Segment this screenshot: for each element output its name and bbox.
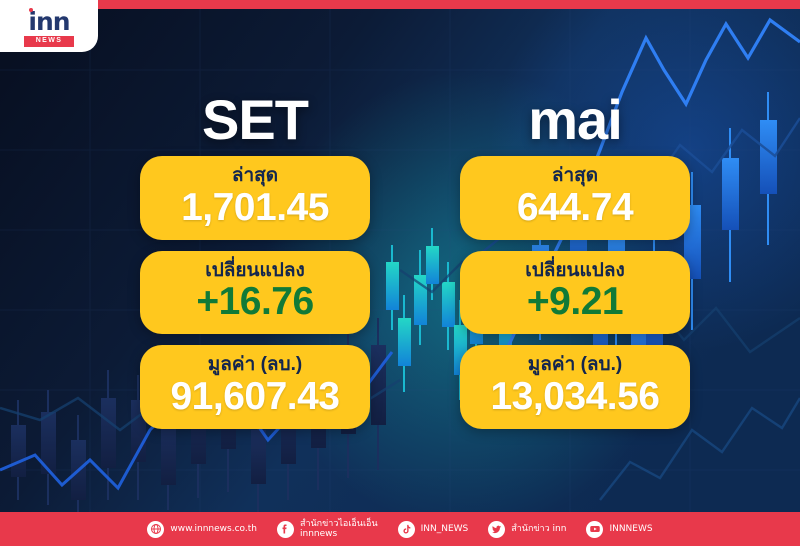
logo-wordmark: inn	[28, 9, 69, 34]
card-set-value: มูลค่า (ลบ.) 91,607.43	[140, 345, 370, 429]
stock-summary-graphic: inn NEWS SET ล่าสุด 1,701.45 เปลี่ยนแปลง…	[0, 0, 800, 546]
card-label-set-change: เปลี่ยนแปลง	[146, 259, 364, 283]
index-title-mai: mai	[460, 84, 690, 156]
logo-news-badge: NEWS	[24, 36, 75, 47]
footer-item-tiktok[interactable]: INN_NEWS	[398, 521, 469, 538]
card-set-change: เปลี่ยนแปลง +16.76	[140, 251, 370, 335]
index-column-mai: mai ล่าสุด 644.74 เปลี่ยนแปลง +9.21 มูลค…	[460, 84, 690, 429]
card-label-mai-last: ล่าสุด	[466, 164, 684, 188]
footer-item-website[interactable]: www.innnews.co.th	[147, 521, 257, 538]
index-title-set: SET	[140, 84, 370, 156]
tiktok-icon	[398, 521, 415, 538]
inn-news-logo[interactable]: inn NEWS	[0, 0, 98, 52]
logo-text: inn	[28, 7, 69, 36]
card-value-mai-change: +9.21	[466, 281, 684, 324]
card-label-set-last: ล่าสุด	[146, 164, 364, 188]
card-label-set-value: มูลค่า (ลบ.)	[146, 353, 364, 377]
card-value-mai-value: 13,034.56	[466, 376, 684, 419]
index-column-set: SET ล่าสุด 1,701.45 เปลี่ยนแปลง +16.76 ม…	[140, 84, 370, 429]
card-label-mai-value: มูลค่า (ลบ.)	[466, 353, 684, 377]
footer-item-youtube[interactable]: INNNEWS	[586, 521, 652, 538]
youtube-icon	[586, 521, 603, 538]
card-value-set-last: 1,701.45	[146, 187, 364, 230]
social-footer-bar: www.innnews.co.th สำนักข่าวไอเอ็นเอ็น in…	[0, 512, 800, 546]
footer-item-facebook[interactable]: สำนักข่าวไอเอ็นเอ็น innnews	[277, 519, 378, 540]
footer-label-facebook: สำนักข่าวไอเอ็นเอ็น innnews	[300, 519, 378, 540]
card-mai-last: ล่าสุด 644.74	[460, 156, 690, 240]
card-mai-change: เปลี่ยนแปลง +9.21	[460, 251, 690, 335]
globe-icon	[147, 521, 164, 538]
indices-container: SET ล่าสุด 1,701.45 เปลี่ยนแปลง +16.76 ม…	[0, 0, 800, 546]
card-value-set-change: +16.76	[146, 281, 364, 324]
footer-label-twitter: สำนักข่าว inn	[511, 524, 566, 534]
card-value-set-value: 91,607.43	[146, 376, 364, 419]
footer-label-facebook-line1: สำนักข่าวไอเอ็นเอ็น	[300, 519, 378, 529]
footer-label-facebook-line2: innnews	[300, 529, 378, 539]
card-label-mai-change: เปลี่ยนแปลง	[466, 259, 684, 283]
footer-label-tiktok: INN_NEWS	[421, 524, 469, 534]
twitter-icon	[488, 521, 505, 538]
card-set-last: ล่าสุด 1,701.45	[140, 156, 370, 240]
card-value-mai-last: 644.74	[466, 187, 684, 230]
card-mai-value: มูลค่า (ลบ.) 13,034.56	[460, 345, 690, 429]
facebook-icon	[277, 521, 294, 538]
footer-item-twitter[interactable]: สำนักข่าว inn	[488, 521, 566, 538]
footer-label-website: www.innnews.co.th	[170, 524, 257, 534]
top-red-strip	[0, 0, 800, 9]
footer-label-youtube: INNNEWS	[609, 524, 652, 534]
